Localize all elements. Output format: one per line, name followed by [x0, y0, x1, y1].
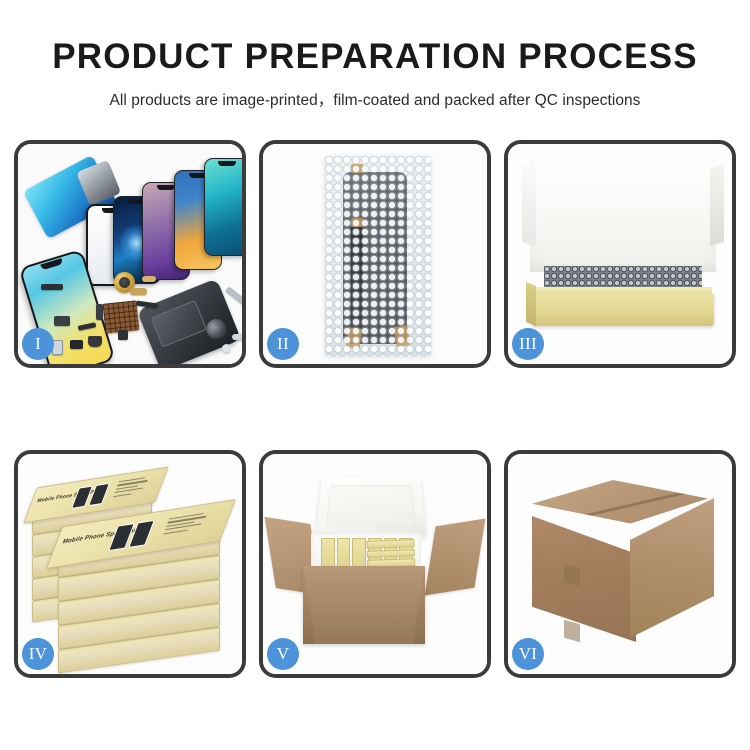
phone-teal-icon [204, 158, 242, 256]
page-subtitle: All products are image-printed，film-coat… [0, 88, 750, 110]
box-spec-lines [113, 477, 149, 497]
step-badge-4: IV [22, 638, 54, 670]
bubble-wrap-bag [325, 156, 431, 356]
box-product-thumbnails [71, 483, 110, 509]
phone-parts-scene [18, 144, 242, 364]
carton-loading-scene [263, 454, 487, 674]
step-6-image [508, 454, 732, 674]
step-panel-1: I [14, 140, 246, 368]
carton-face-left [532, 516, 636, 642]
step-4-image: Mobile Phone Spare Parts [18, 454, 242, 674]
component-camera-icon [70, 340, 83, 349]
component-speaker-icon [88, 336, 102, 347]
bubble-wrap-scene [263, 144, 487, 364]
component-module-icon [54, 316, 70, 326]
step-panel-3: III [504, 140, 736, 368]
page-title: PRODUCT PREPARATION PROCESS [0, 38, 750, 77]
box-stack: Mobile Phone Spare Parts [28, 470, 238, 666]
foam-lid [316, 477, 427, 536]
copper-circuit-board-icon [103, 300, 140, 333]
open-box-scene [508, 144, 732, 364]
step-3-image [508, 144, 732, 364]
sealed-carton-scene [508, 454, 732, 674]
white-foam-sheet [542, 192, 704, 264]
stacked-boxes-scene: Mobile Phone Spare Parts [18, 454, 242, 674]
step-panel-5: V [259, 450, 491, 678]
step-badge-1: I [22, 328, 54, 360]
bubble-texture [325, 156, 431, 356]
process-steps-grid: I II [14, 140, 736, 678]
component-chip-icon [41, 284, 63, 290]
screw-icon [222, 344, 231, 353]
notch-icon [157, 185, 175, 190]
phone-lineup [86, 154, 242, 274]
step-panel-6: VI [504, 450, 736, 678]
yellow-box [366, 539, 414, 548]
box-spec-lines [164, 512, 208, 534]
tweezers-icon [225, 286, 242, 308]
shipping-carton [526, 480, 714, 648]
product-preparation-infographic: PRODUCT PREPARATION PROCESS All products… [0, 0, 750, 750]
carton-flap-right [425, 518, 486, 595]
box-product-thumbnails [108, 520, 155, 551]
component-gold-connector-icon [130, 288, 147, 295]
step-panel-2: II [259, 140, 491, 368]
component-gold-clip-icon [142, 276, 156, 282]
screwdriver-bit-icon [232, 334, 242, 340]
component-ic-icon [118, 330, 128, 340]
step-badge-3: III [512, 328, 544, 360]
tape-patch-icon [564, 620, 580, 643]
step-badge-6: VI [512, 638, 544, 670]
step-panel-4: Mobile Phone Spare Parts [14, 450, 246, 678]
component-bracket-icon [96, 304, 103, 320]
notch-icon [218, 161, 236, 166]
step-1-image [18, 144, 242, 364]
notch-icon [40, 258, 63, 270]
header: PRODUCT PREPARATION PROCESS All products… [0, 0, 750, 110]
carton-body [303, 566, 425, 644]
step-2-image [263, 144, 487, 364]
step-5-image [263, 454, 487, 674]
yellow-box-base [532, 294, 714, 326]
spec-line [113, 493, 131, 497]
yellow-box [367, 549, 415, 558]
step-badge-2: II [267, 328, 299, 360]
step-badge-5: V [267, 638, 299, 670]
